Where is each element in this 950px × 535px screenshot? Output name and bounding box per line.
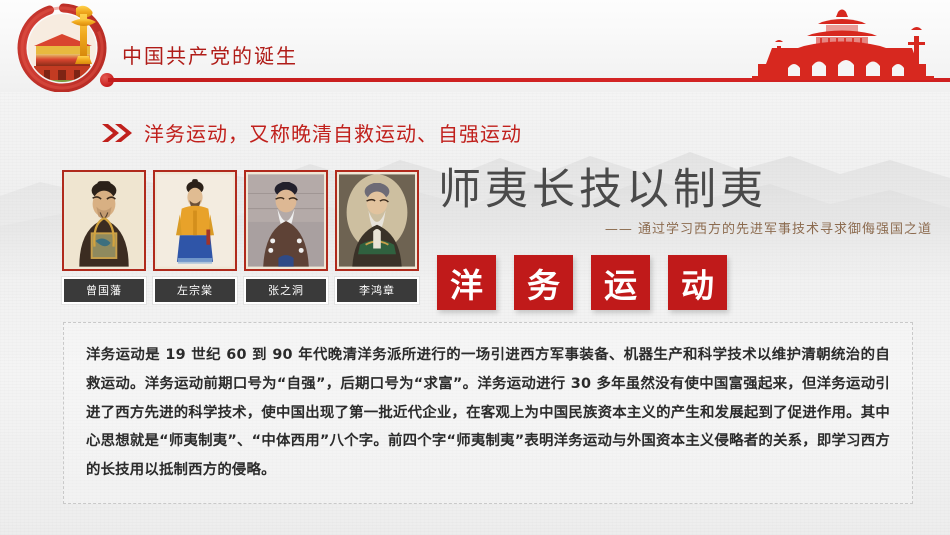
portrait-card[interactable]: 左宗棠 xyxy=(153,170,237,304)
body-text-box: 洋务运动是 19 世纪 60 到 90 年代晚清洋务派所进行的一场引进西方军事装… xyxy=(63,322,913,504)
slide-canvas: 中国共产党的诞生 xyxy=(0,0,950,535)
word-block: 洋 xyxy=(437,255,496,310)
portrait-zhang-zhidong-icon xyxy=(244,170,328,271)
page-title: 中国共产党的诞生 xyxy=(122,40,298,69)
portrait-zeng-guofan-icon xyxy=(62,170,146,271)
section-title: 洋务运动，又称晚清自救运动、自强运动 xyxy=(144,118,522,147)
word-block: 动 xyxy=(668,255,727,310)
portrait-card[interactable]: 李鸿章 xyxy=(335,170,419,304)
portrait-zuo-zongtang-icon xyxy=(153,170,237,271)
tiananmen-gate-icon xyxy=(742,4,942,82)
word-block-group: 洋 务 运 动 xyxy=(437,255,727,310)
section-heading: 洋务运动，又称晚清自救运动、自强运动 xyxy=(100,118,522,147)
portrait-li-hongzhang-icon xyxy=(335,170,419,271)
word-block: 运 xyxy=(591,255,650,310)
headline-group: 师夷长技以制夷 —— 通过学习西方的先进军事技术寻求御侮强国之道 xyxy=(438,166,938,237)
portrait-name-label: 曾国藩 xyxy=(62,277,146,304)
word-block: 务 xyxy=(514,255,573,310)
body-paragraph: 洋务运动是 19 世纪 60 到 90 年代晚清洋务派所进行的一场引进西方军事装… xyxy=(86,341,890,485)
headline-main-text: 师夷长技以制夷 xyxy=(438,166,938,214)
portrait-name-label: 李鸿章 xyxy=(335,277,419,304)
slide-header: 中国共产党的诞生 xyxy=(0,0,950,92)
portrait-gallery: 曾国藩 左宗棠 xyxy=(62,170,419,304)
portrait-name-label: 张之洞 xyxy=(244,277,328,304)
headline-subtitle-text: —— 通过学习西方的先进军事技术寻求御侮强国之道 xyxy=(438,218,938,237)
double-chevron-right-icon xyxy=(100,122,134,144)
portrait-name-label: 左宗棠 xyxy=(153,277,237,304)
portrait-card[interactable]: 曾国藩 xyxy=(62,170,146,304)
portrait-card[interactable]: 张之洞 xyxy=(244,170,328,304)
